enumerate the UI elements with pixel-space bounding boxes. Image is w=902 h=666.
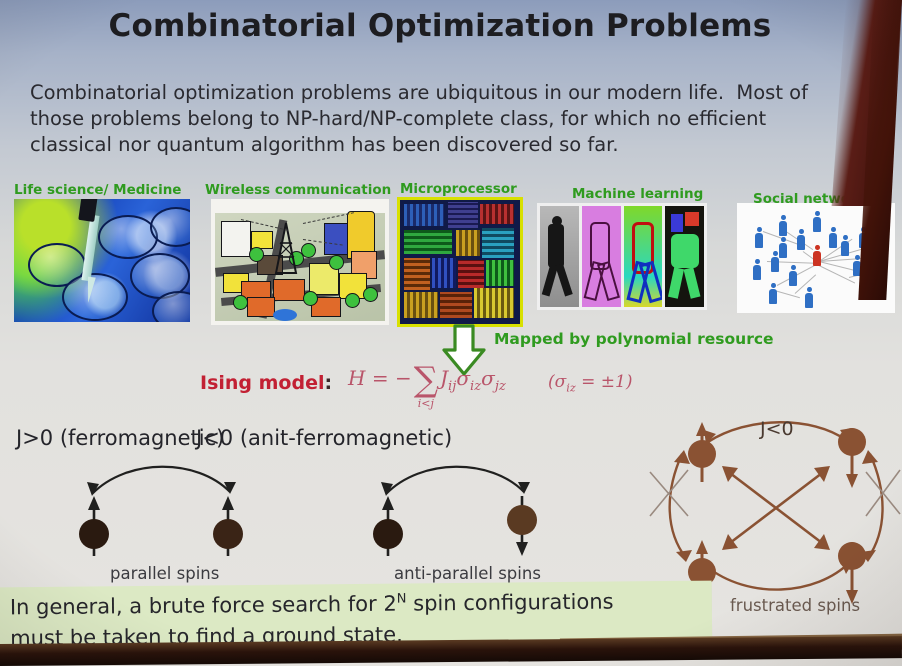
conclusion-line-1-pre: In general, a brute force search for 2 bbox=[10, 592, 397, 620]
ising-model-text: Ising model bbox=[200, 372, 324, 394]
summation-symbol: ∑i<j bbox=[414, 367, 438, 396]
category-label-microprocessor: Microprocessor bbox=[400, 181, 517, 197]
equation-equals: = bbox=[372, 366, 389, 390]
category-label-machine-learning: Machine learning bbox=[572, 186, 703, 202]
frustrated-caption: frustrated spins bbox=[730, 596, 860, 615]
conclusion-line-1-post: spin configurations bbox=[406, 590, 613, 616]
intro-paragraph: Combinatorial optimization problems are … bbox=[30, 80, 858, 158]
ferro-caption: parallel spins bbox=[110, 564, 219, 583]
sigma-2-subscript: jz bbox=[495, 379, 506, 394]
sigma-2: σ bbox=[481, 366, 495, 390]
ising-model-label: Ising model: bbox=[200, 372, 332, 394]
ml-panel-magenta bbox=[582, 206, 621, 307]
sum-sign: ∑ bbox=[414, 360, 438, 400]
ferro-spin-diagram bbox=[72, 452, 252, 567]
sum-subscript: i<j bbox=[418, 397, 434, 410]
isometric-city-antenna-image bbox=[211, 199, 389, 325]
sigma-1-subscript: iz bbox=[470, 379, 481, 394]
equation-lhs: H bbox=[348, 366, 365, 390]
conclusion-line-1: In general, a brute force search for 2N … bbox=[10, 581, 710, 624]
antiferro-heading: J<0 (anit-ferromagnetic) bbox=[196, 426, 452, 450]
chip-die-image bbox=[397, 197, 523, 327]
page-title: Combinatorial Optimization Problems bbox=[0, 8, 880, 44]
antiferro-spin-diagram bbox=[366, 452, 546, 567]
petri-dish-pipette-image bbox=[14, 199, 190, 322]
ml-panel-dark bbox=[665, 206, 704, 307]
ising-condition: (σiz = ±1) bbox=[548, 372, 633, 394]
paragraph-line: Combinatorial optimization problems are … bbox=[30, 80, 858, 106]
antiferro-caption: anti-parallel spins bbox=[394, 564, 541, 583]
condition-subscript: iz bbox=[566, 381, 576, 394]
mapped-by-label: Mapped by polynomial resource bbox=[494, 330, 774, 348]
ml-panel-rainbow bbox=[624, 206, 663, 307]
frustrated-heading: J<0 bbox=[760, 418, 794, 440]
category-label-wireless: Wireless communication bbox=[205, 182, 391, 198]
ferro-heading: J>0 (ferromagnetic) bbox=[16, 426, 224, 450]
exponent-N: N bbox=[397, 592, 407, 607]
network-node-center bbox=[813, 245, 821, 266]
coupling-J: J bbox=[440, 366, 448, 390]
paragraph-line: those problems belong to NP-hard/NP-comp… bbox=[30, 106, 858, 132]
category-label-life-science: Life science∕ Medicine bbox=[14, 182, 181, 198]
slide-canvas: Combinatorial Optimization Problems Comb… bbox=[0, 0, 902, 666]
condition-open: (σ bbox=[548, 372, 566, 392]
condition-tail: = ±1) bbox=[576, 372, 633, 392]
paragraph-line: classical nor quantum algorithm has been… bbox=[30, 132, 858, 158]
sigma-1: σ bbox=[456, 366, 470, 390]
pedestrian-feature-maps-image bbox=[537, 203, 707, 310]
ising-equation: H = −∑i<jJijσizσjz bbox=[348, 366, 506, 396]
ising-colon: : bbox=[324, 372, 332, 394]
equation-minus: − bbox=[395, 366, 412, 390]
ml-panel-gray bbox=[540, 206, 579, 307]
